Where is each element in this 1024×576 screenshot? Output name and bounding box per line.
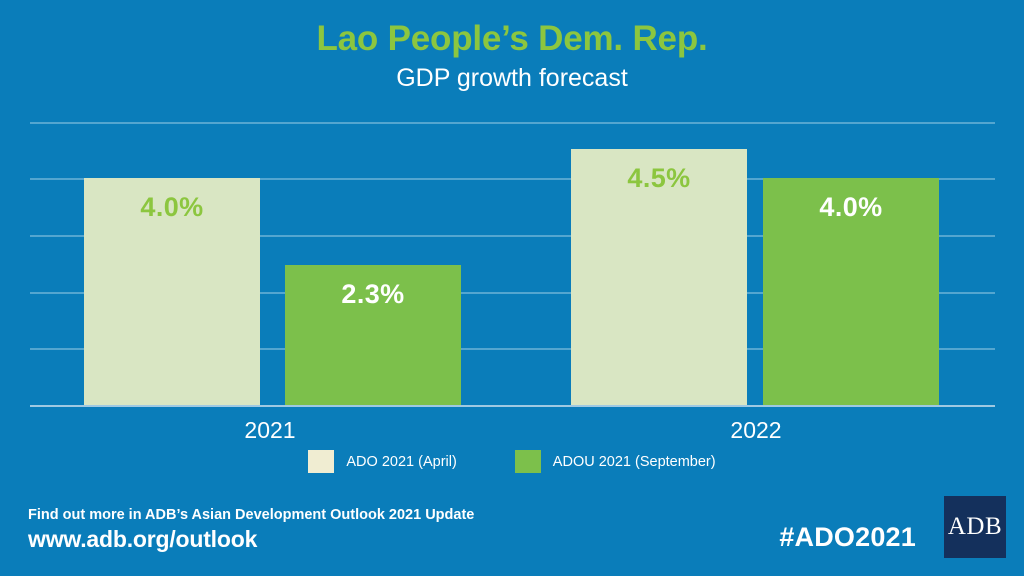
bar-adou-2021: 2.3% [285, 265, 461, 405]
bar-ado-2021: 4.0% [84, 178, 260, 405]
infographic-canvas: Lao People’s Dem. Rep. GDP growth foreca… [0, 0, 1024, 576]
axis-baseline [30, 405, 995, 407]
legend-swatch-icon [515, 450, 541, 473]
x-axis-label-2022: 2022 [656, 417, 856, 444]
gridline [30, 122, 995, 124]
chart-subtitle: GDP growth forecast [0, 62, 1024, 94]
bar-value-label: 2.3% [285, 279, 461, 310]
legend-label: ADOU 2021 (September) [553, 454, 716, 470]
bar-value-label: 4.0% [763, 192, 939, 223]
bar-value-label: 4.0% [84, 192, 260, 223]
legend-item-ado: ADO 2021 (April) [308, 450, 456, 473]
bar-ado-2022: 4.5% [571, 149, 747, 405]
legend-swatch-icon [308, 450, 334, 473]
legend-label: ADO 2021 (April) [346, 454, 456, 470]
chart-legend: ADO 2021 (April) ADOU 2021 (September) [0, 450, 1024, 473]
chart-plot-area: 4.0% 2.3% 4.5% 4.0% [30, 122, 995, 406]
footer-tagline: Find out more in ADB’s Asian Development… [28, 505, 474, 525]
legend-item-adou: ADOU 2021 (September) [515, 450, 716, 473]
page-title: Lao People’s Dem. Rep. [0, 18, 1024, 60]
chart-header: Lao People’s Dem. Rep. GDP growth foreca… [0, 18, 1024, 94]
x-axis-label-2021: 2021 [170, 417, 370, 444]
bar-adou-2022: 4.0% [763, 178, 939, 405]
adb-logo: ADB [944, 496, 1006, 558]
footer-left-block: Find out more in ADB’s Asian Development… [28, 505, 474, 553]
adb-logo-text: ADB [948, 513, 1002, 541]
footer-url[interactable]: www.adb.org/outlook [28, 525, 474, 553]
footer-hashtag: #ADO2021 [779, 522, 916, 553]
bar-value-label: 4.5% [571, 163, 747, 194]
